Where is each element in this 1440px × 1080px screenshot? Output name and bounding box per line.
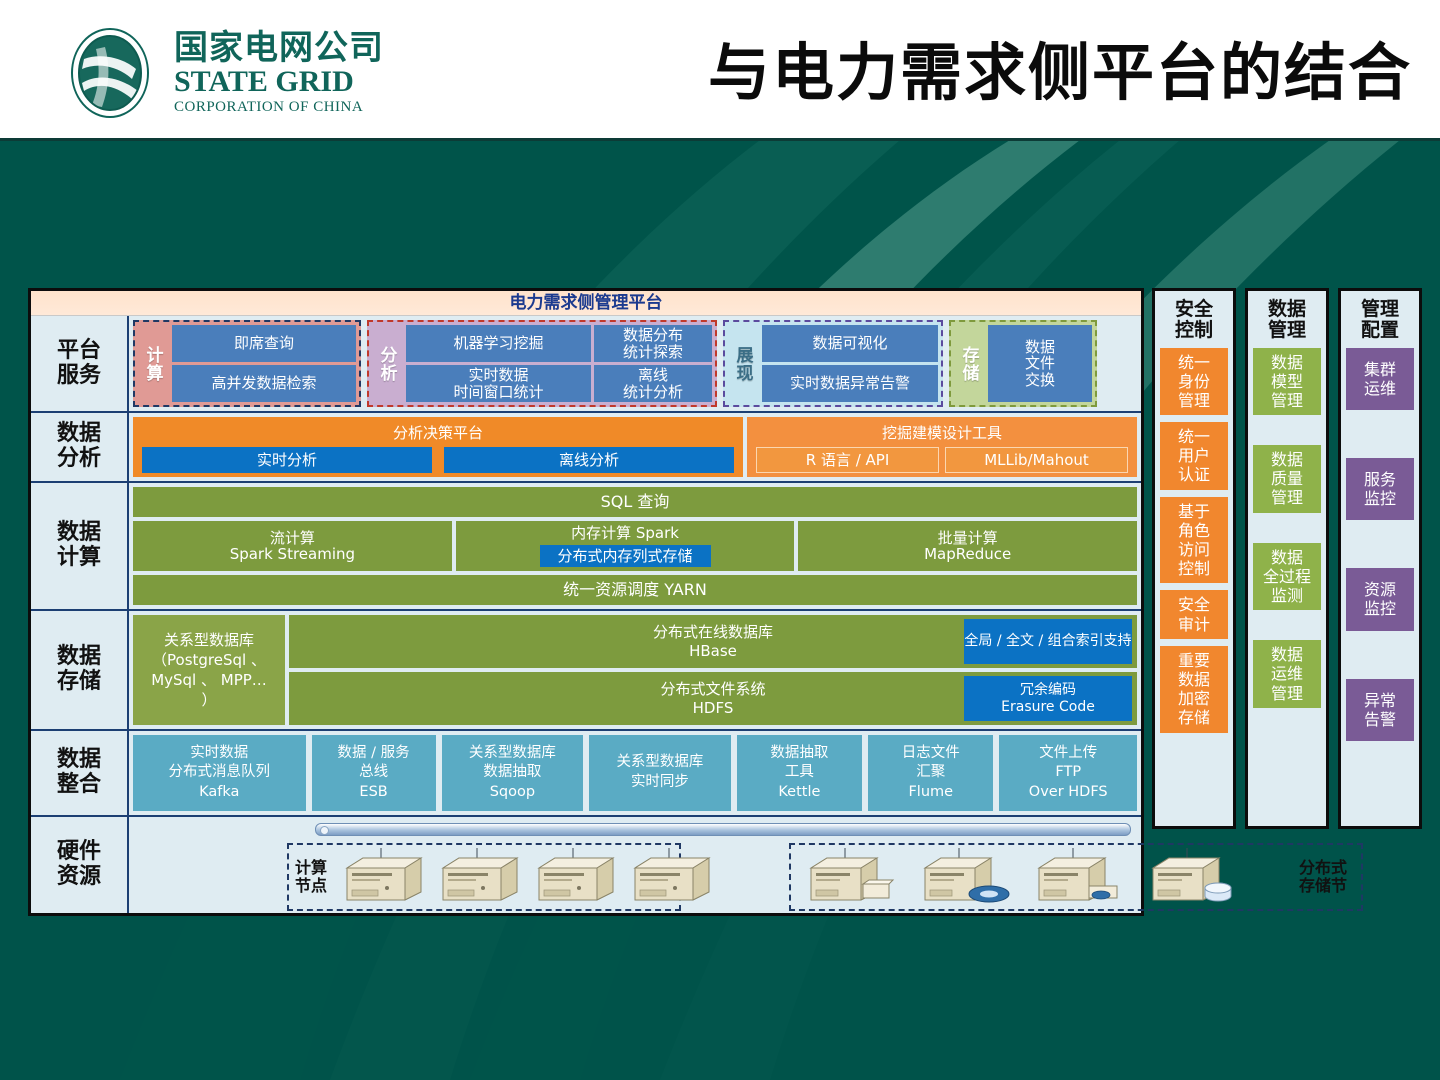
- header-line: 配置: [1361, 319, 1399, 341]
- compute-cell-subtitle: Spark Streaming: [230, 546, 355, 563]
- side-column-security-control: 安全 控制 统一 身份 管理 统一 用户 认证 基于 角色 访问 控制 安全 审…: [1152, 288, 1236, 829]
- caption-line: 分布式: [1299, 858, 1347, 877]
- compute-cell-stream[interactable]: 流计算 Spark Streaming: [133, 521, 452, 571]
- row-data-integration: 数据 整合 实时数据 分布式消息队列 Kafka 数据 / 服务 总线 ESB …: [31, 729, 1141, 815]
- row-label-hardware-resources: 硬件 资源: [31, 817, 129, 913]
- server-icon: [621, 848, 717, 906]
- integration-line: 数据抽取: [770, 744, 828, 764]
- row-label-line: 资源: [57, 865, 101, 890]
- integration-line: 分布式消息队列: [169, 763, 271, 783]
- row-label-line: 服务: [57, 364, 101, 389]
- service-box-offline-stats[interactable]: 离线 统计分析: [594, 365, 712, 402]
- chip-resource-monitoring[interactable]: 资源 监控: [1346, 568, 1414, 630]
- side-column-management-config: 管理 配置 集群 运维 服务 监控 资源 监控 异常 告警: [1338, 288, 1422, 829]
- storage-bar-subtitle: HBase: [689, 642, 737, 660]
- chip-service-monitoring[interactable]: 服务 监控: [1346, 458, 1414, 520]
- integration-line: 实时同步: [631, 773, 689, 793]
- storage-tag-erasure-code[interactable]: 冗余编码 Erasure Code: [964, 676, 1132, 721]
- group-compute[interactable]: 计算 即席查询 高并发数据检索: [133, 320, 361, 407]
- storage-rdb-line: 关系型数据库: [164, 630, 254, 650]
- server-icon: [429, 848, 525, 906]
- compute-bar-yarn[interactable]: 统一资源调度 YARN: [133, 575, 1137, 605]
- storage-server-icon: [1139, 848, 1235, 906]
- analysis-platform-title: 分析决策平台: [136, 420, 740, 444]
- group-presentation-label: 展现: [728, 325, 758, 402]
- integration-cell-ftp-over-hdfs[interactable]: 文件上传 FTP Over HDFS: [999, 735, 1137, 811]
- compute-cell-title: 批量计算: [938, 530, 998, 547]
- chip-data-quality-management[interactable]: 数据 质量 管理: [1253, 445, 1321, 513]
- storage-bar-title: 分布式文件系统: [660, 680, 765, 698]
- compute-bar-sql-query[interactable]: SQL 查询: [133, 487, 1137, 517]
- integration-cell-realtime-sync[interactable]: 关系型数据库 实时同步: [589, 735, 731, 811]
- storage-tag-index-support[interactable]: 全局 / 全文 / 组合索引支持: [964, 619, 1132, 664]
- chip-data-model-management[interactable]: 数据 模型 管理: [1253, 348, 1321, 416]
- panel-mining-modeling-tools[interactable]: 挖掘建模设计工具 R 语言 / API MLLib/Mahout: [747, 417, 1137, 477]
- compute-cell-title: 流计算: [270, 530, 315, 547]
- integration-line: 实时数据: [190, 744, 248, 764]
- platform-banner: 电力需求侧管理平台: [31, 291, 1141, 316]
- chip-cluster-ops[interactable]: 集群 运维: [1346, 348, 1414, 410]
- storage-bar-hdfs[interactable]: 分布式文件系统 HDFS 冗余编码 Erasure Code: [289, 672, 1137, 725]
- integration-line: 工具: [785, 763, 814, 783]
- integration-cell-kafka[interactable]: 实时数据 分布式消息队列 Kafka: [133, 735, 306, 811]
- architecture-diagram: 电力需求侧管理平台 平台 服务 计算 即席查询 高并发数据检索 分析: [28, 288, 1144, 916]
- page-title: 与电力需求侧平台的结合: [708, 22, 1412, 112]
- storage-server-icon: [911, 848, 1007, 906]
- chip-data-ops-management[interactable]: 数据 运维 管理: [1253, 640, 1321, 708]
- storage-rdb-line: MySql 、 MPP…: [151, 670, 267, 690]
- chip-unified-identity-management[interactable]: 统一 身份 管理: [1160, 348, 1228, 416]
- compute-cell-inmemory[interactable]: 内存计算 Spark 分布式内存列式存储: [456, 521, 795, 571]
- integration-line: 数据 / 服务: [338, 744, 410, 764]
- row-label-line: 平台: [57, 339, 101, 364]
- integration-line: Over HDFS: [1029, 783, 1108, 803]
- group-analysis[interactable]: 分析 机器学习挖掘 实时数据 时间窗口统计 数据分布 统计探索 离线 统计分析: [367, 320, 717, 407]
- row-label-data-compute: 数据 计算: [31, 483, 129, 609]
- integration-line: Kafka: [199, 783, 239, 803]
- storage-rdb-line: ）: [201, 690, 216, 710]
- row-data-analysis: 数据 分析 分析决策平台 实时分析 离线分析 挖掘建模设计工具 R 语言 / A…: [31, 411, 1141, 481]
- panel-analysis-decision-platform[interactable]: 分析决策平台 实时分析 离线分析: [133, 417, 743, 477]
- header-line: 管理: [1268, 319, 1306, 341]
- side-columns: 安全 控制 统一 身份 管理 统一 用户 认证 基于 角色 访问 控制 安全 审…: [1152, 288, 1422, 829]
- mining-box-mllib-mahout[interactable]: MLLib/Mahout: [945, 447, 1128, 473]
- chip-security-audit[interactable]: 安全 审计: [1160, 590, 1228, 638]
- server-icon: [525, 848, 621, 906]
- integration-line: 文件上传: [1039, 744, 1097, 764]
- row-data-compute: 数据 计算 SQL 查询 流计算 Spark Streaming 内存计算 Sp…: [31, 481, 1141, 609]
- server-icon: [333, 848, 429, 906]
- storage-server-icon: [797, 848, 893, 906]
- state-grid-logo: 国家电网公司 STATE GRID CORPORATION OF CHINA: [60, 20, 400, 125]
- row-label-line: 数据: [57, 748, 101, 773]
- row-data-storage: 数据 存储 关系型数据库 （PostgreSql 、 MySql 、 MPP… …: [31, 609, 1141, 729]
- compute-cell-subtitle: MapReduce: [924, 546, 1011, 563]
- service-box-ad-hoc-query[interactable]: 即席查询: [172, 325, 356, 362]
- service-box-ml-mining[interactable]: 机器学习挖掘: [406, 325, 591, 362]
- row-label-line: 数据: [57, 645, 101, 670]
- compute-cell-batch[interactable]: 批量计算 MapReduce: [798, 521, 1137, 571]
- integration-line: Kettle: [778, 783, 820, 803]
- row-label-line: 数据: [57, 422, 101, 447]
- side-column-header: 管理 配置: [1361, 299, 1399, 342]
- integration-line: Sqoop: [490, 783, 535, 803]
- row-label-data-analysis: 数据 分析: [31, 413, 129, 481]
- row-label-data-integration: 数据 整合: [31, 731, 129, 815]
- analysis-box-realtime[interactable]: 实时分析: [142, 447, 432, 473]
- row-label-line: 存储: [57, 670, 101, 695]
- service-box-data-file-exchange[interactable]: 数据 文件 交换: [988, 325, 1092, 402]
- chip-unified-user-authentication[interactable]: 统一 用户 认证: [1160, 422, 1228, 490]
- group-analysis-label: 分析: [372, 325, 402, 402]
- compute-inner-columnar-store[interactable]: 分布式内存列式存储: [540, 545, 711, 568]
- side-column-header: 数据 管理: [1268, 299, 1306, 342]
- integration-line: 关系型数据库: [616, 753, 703, 773]
- analysis-box-offline[interactable]: 离线分析: [444, 447, 734, 473]
- row-label-data-storage: 数据 存储: [31, 611, 129, 729]
- storage-bar-subtitle: HDFS: [693, 699, 734, 717]
- group-storage-nodes[interactable]: 分布式 存储节: [789, 843, 1363, 911]
- row-label-line: 数据: [57, 521, 101, 546]
- storage-box-relational-db[interactable]: 关系型数据库 （PostgreSql 、 MySql 、 MPP… ）: [133, 615, 285, 725]
- service-box-realtime-window-stats[interactable]: 实时数据 时间窗口统计: [406, 365, 591, 402]
- header-line: 管理: [1361, 298, 1399, 320]
- service-box-distribution-stats[interactable]: 数据分布 统计探索: [594, 325, 712, 362]
- integration-line: 数据抽取: [483, 763, 541, 783]
- logo-chinese-name: 国家电网公司: [174, 31, 384, 65]
- integration-line: 日志文件: [902, 744, 960, 764]
- group-compute-label: 计算: [138, 325, 168, 402]
- service-box-high-concurrency-search[interactable]: 高并发数据检索: [172, 365, 356, 402]
- row-label-line: 硬件: [57, 840, 101, 865]
- group-storage-label: 存储: [954, 325, 984, 402]
- storage-server-icon: [1025, 848, 1121, 906]
- group-compute-nodes[interactable]: 计算 节点: [287, 843, 681, 911]
- group-presentation[interactable]: 展现 数据可视化 实时数据异常告警: [723, 320, 943, 407]
- chip-anomaly-alarm[interactable]: 异常 告警: [1346, 679, 1414, 741]
- header-line: 安全: [1175, 298, 1213, 320]
- storage-rdb-line: （PostgreSql 、: [152, 650, 266, 670]
- logo-english-subtitle: CORPORATION OF CHINA: [174, 100, 384, 115]
- storage-nodes-caption: 分布式 存储节: [1293, 859, 1353, 895]
- caption-line: 计算: [295, 858, 327, 877]
- integration-line: 总线: [359, 763, 388, 783]
- service-box-data-visualization[interactable]: 数据可视化: [762, 325, 938, 362]
- chip-role-based-access-control[interactable]: 基于 角色 访问 控制: [1160, 497, 1228, 584]
- logo-english-name: STATE GRID: [174, 67, 384, 97]
- row-platform-services: 平台 服务 计算 即席查询 高并发数据检索 分析 机器学习挖掘: [31, 316, 1141, 411]
- integration-cell-sqoop[interactable]: 关系型数据库 数据抽取 Sqoop: [442, 735, 584, 811]
- integration-line: FTP: [1055, 763, 1081, 783]
- network-bus: [315, 823, 1131, 836]
- chip-critical-data-encrypted-storage[interactable]: 重要 数据 加密 存储: [1160, 646, 1228, 733]
- service-box-realtime-anomaly-alarm[interactable]: 实时数据异常告警: [762, 365, 938, 402]
- storage-bar-title: 分布式在线数据库: [653, 623, 773, 641]
- storage-bar-hbase[interactable]: 分布式在线数据库 HBase 全局 / 全文 / 组合索引支持: [289, 615, 1137, 668]
- row-label-line: 计算: [57, 546, 101, 571]
- integration-line: Flume: [908, 783, 953, 803]
- integration-cell-kettle[interactable]: 数据抽取 工具 Kettle: [737, 735, 862, 811]
- row-label-line: 整合: [57, 773, 101, 798]
- header-line: 数据: [1268, 298, 1306, 320]
- caption-line: 存储节: [1299, 876, 1347, 895]
- row-label-platform-services: 平台 服务: [31, 316, 129, 411]
- group-storage[interactable]: 存储 数据 文件 交换: [949, 320, 1097, 407]
- integration-line: ESB: [359, 783, 387, 803]
- header-divider: [0, 138, 1440, 141]
- caption-line: 节点: [295, 876, 327, 895]
- state-grid-globe-icon: [60, 23, 160, 123]
- integration-line: 关系型数据库: [469, 744, 556, 764]
- row-hardware-resources: 硬件 资源 计算 节点: [31, 815, 1141, 913]
- header-line: 控制: [1175, 319, 1213, 341]
- mining-box-r-language-api[interactable]: R 语言 / API: [756, 447, 939, 473]
- mining-tools-title: 挖掘建模设计工具: [750, 420, 1134, 444]
- integration-line: 汇聚: [916, 763, 945, 783]
- side-column-data-management: 数据 管理 数据 模型 管理 数据 质量 管理 数据 全过程 监测 数据 运维 …: [1245, 288, 1329, 829]
- row-label-line: 分析: [57, 447, 101, 472]
- integration-cell-flume[interactable]: 日志文件 汇聚 Flume: [868, 735, 993, 811]
- chip-data-lifecycle-monitoring[interactable]: 数据 全过程 监测: [1253, 543, 1321, 611]
- compute-cell-title: 内存计算 Spark: [571, 525, 679, 542]
- compute-nodes-caption: 计算 节点: [289, 859, 333, 895]
- integration-cell-esb[interactable]: 数据 / 服务 总线 ESB: [312, 735, 436, 811]
- slide-header: 国家电网公司 STATE GRID CORPORATION OF CHINA 与…: [0, 0, 1440, 140]
- side-column-header: 安全 控制: [1175, 299, 1213, 342]
